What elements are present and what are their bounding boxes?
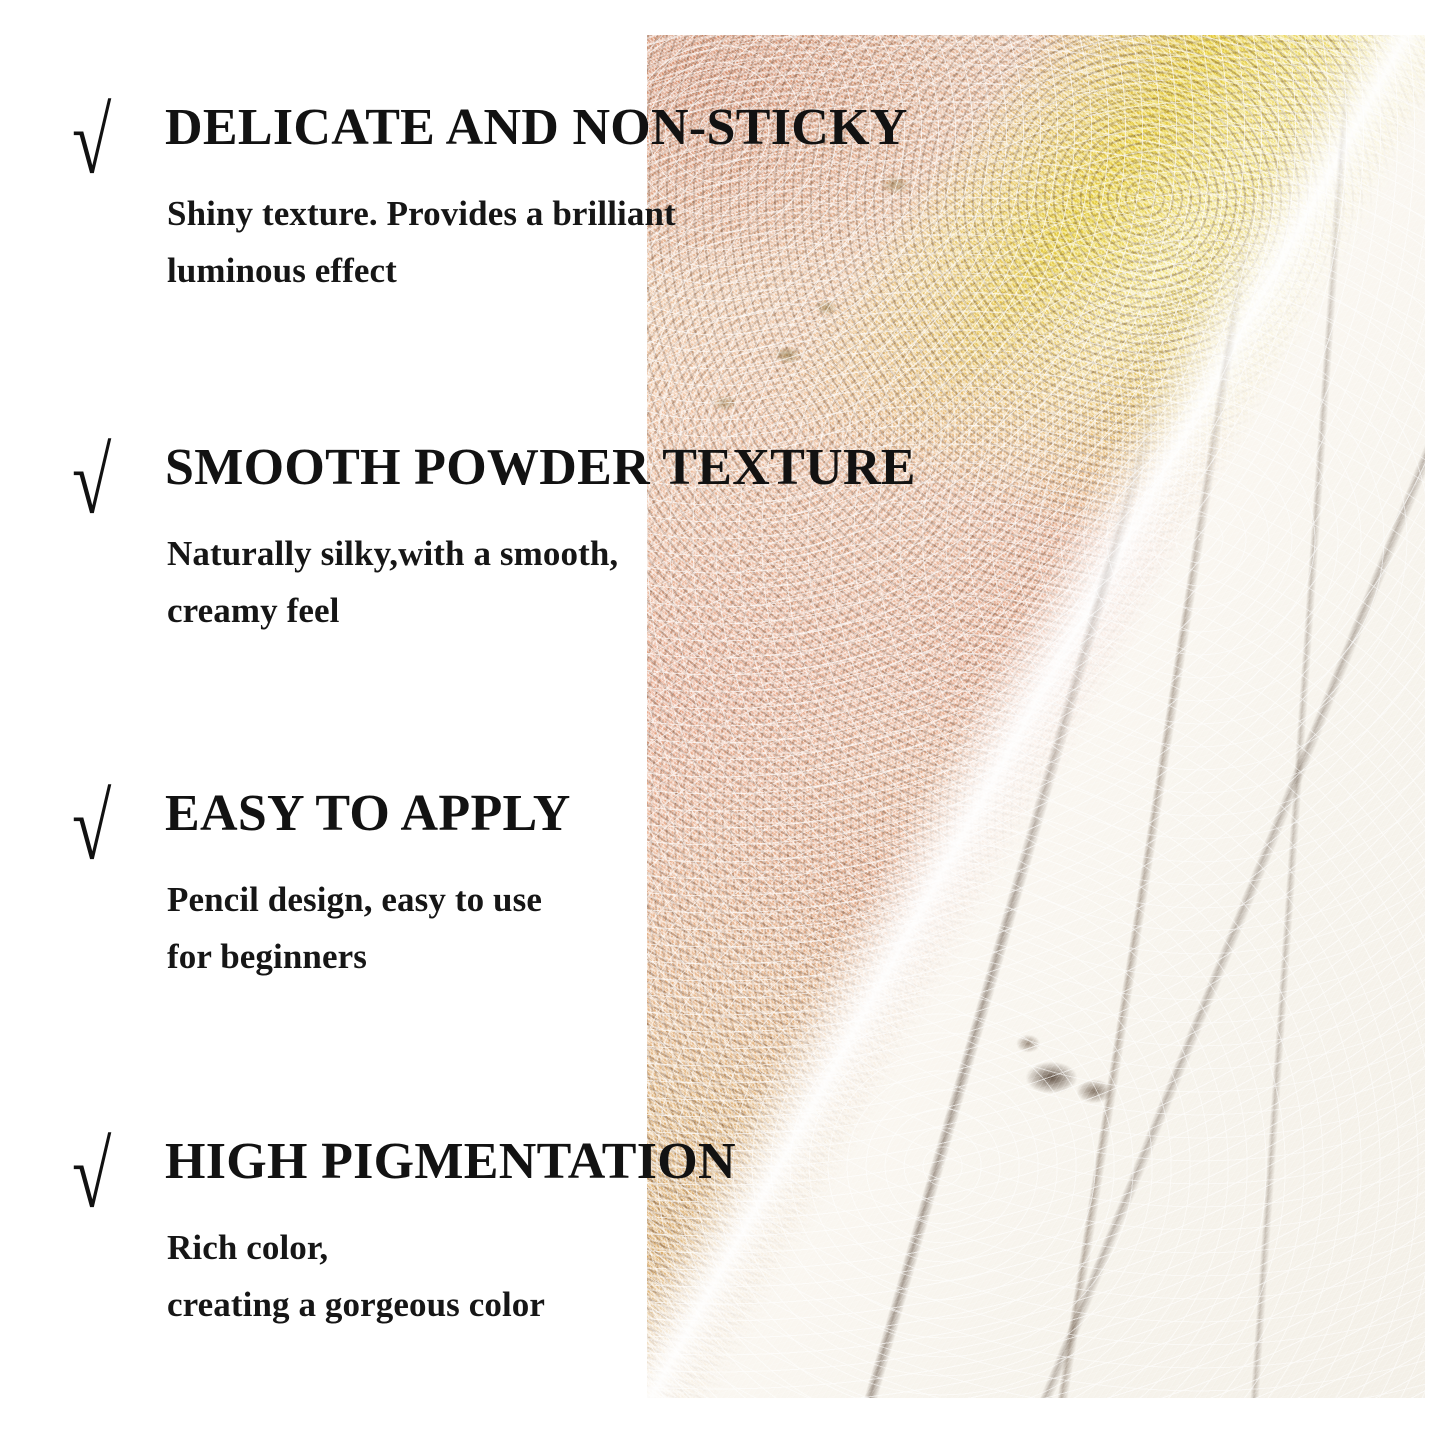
feature-description: Rich color, creating a gorgeous color [167, 1220, 545, 1333]
feature-description-line: Naturally silky,with a smooth, [167, 526, 618, 583]
checkmark-icon: √ [72, 1128, 110, 1222]
feature-description: Naturally silky,with a smooth, creamy fe… [167, 526, 618, 639]
infographic-page: √ DELICATE AND NON-STICKY Shiny texture.… [0, 0, 1445, 1445]
powder-sparkle-highlights [647, 35, 1425, 1398]
feature-description-line: Pencil design, easy to use [167, 872, 542, 929]
checkmark-icon: √ [72, 94, 110, 188]
feature-description-line: Shiny texture. Provides a brilliant [167, 186, 676, 243]
checkmark-icon: √ [72, 434, 110, 528]
feature-description-line: creating a gorgeous color [167, 1277, 545, 1334]
feature-description-line: Rich color, [167, 1220, 545, 1277]
feature-description-line: for beginners [167, 929, 542, 986]
feature-heading: DELICATE AND NON-STICKY [165, 100, 908, 155]
feature-heading: EASY TO APPLY [165, 786, 571, 841]
feature-heading: SMOOTH POWDER TEXTURE [165, 440, 916, 495]
powder-swatch-photo [647, 35, 1425, 1398]
feature-description-line: creamy feel [167, 583, 618, 640]
feature-description: Pencil design, easy to use for beginners [167, 872, 542, 985]
feature-description: Shiny texture. Provides a brilliant lumi… [167, 186, 676, 299]
checkmark-icon: √ [72, 780, 110, 874]
feature-description-line: luminous effect [167, 243, 676, 300]
feature-heading: HIGH PIGMENTATION [165, 1134, 736, 1189]
